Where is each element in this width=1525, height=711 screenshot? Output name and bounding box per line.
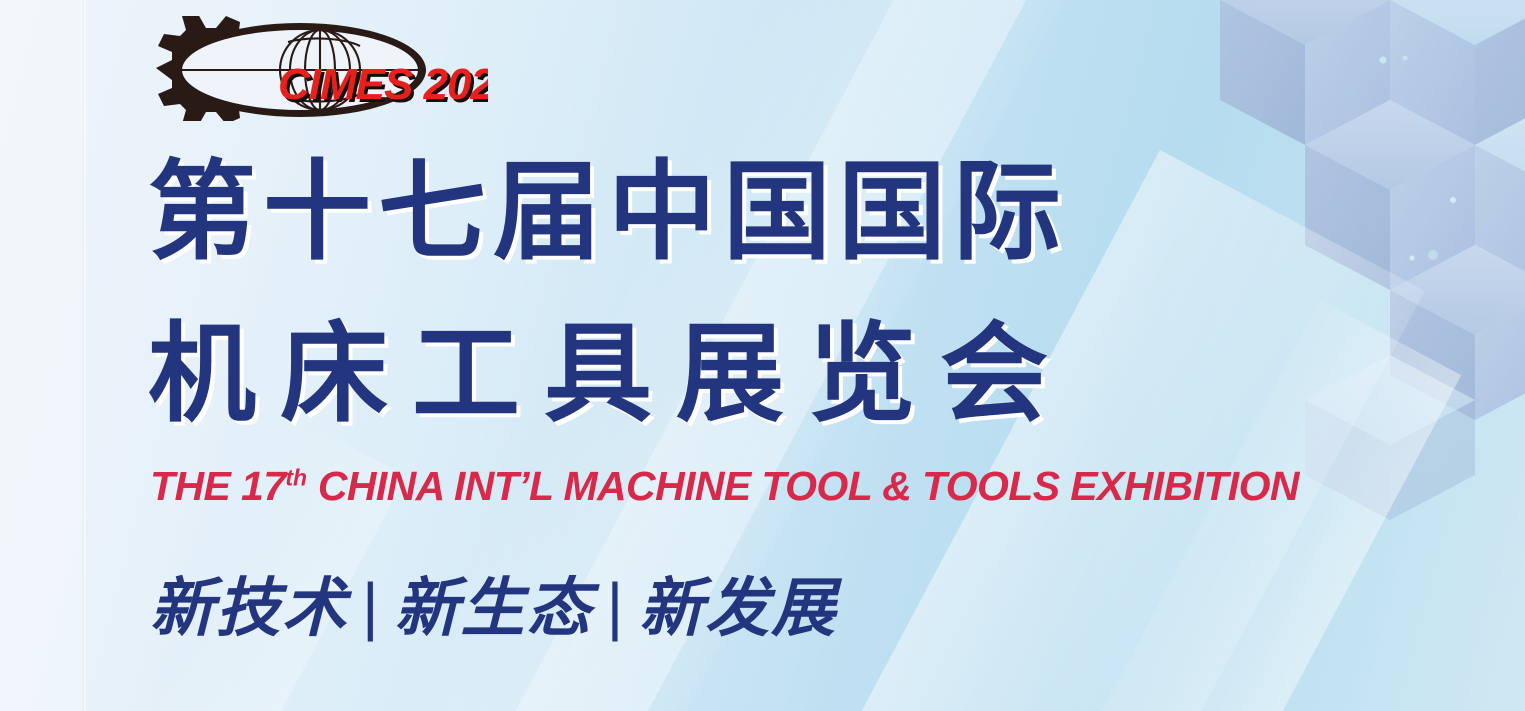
left-vertical-band-edge — [84, 0, 86, 711]
english-title: THE 17th CHINA INT’L MACHINE TOOL & TOOL… — [150, 466, 1299, 507]
left-vertical-band — [0, 0, 82, 711]
cimes-logo: CIMES 2026 CIMES 2026 — [148, 16, 488, 121]
slogan-item-1: 新技术 — [150, 572, 348, 644]
banner-content: CIMES 2026 CIMES 2026 第十七届中国国际 机床工具展览会 T… — [148, 0, 1248, 711]
exhibition-banner: CIMES 2026 CIMES 2026 第十七届中国国际 机床工具展览会 T… — [0, 0, 1525, 711]
cimes-wordmark: CIMES 2026 CIMES 2026 — [278, 60, 488, 112]
english-title-ordinal: th — [285, 464, 307, 490]
cimes-wordmark-text: CIMES 2026 — [278, 60, 488, 109]
slogan: 新技术|新生态|新发展 — [150, 576, 837, 640]
slogan-separator: | — [348, 574, 395, 638]
english-title-prefix: THE 17 — [150, 463, 285, 509]
headline-line-2: 机床工具展览会 — [148, 320, 1072, 428]
headline-line-1: 第十七届中国国际 — [148, 158, 1068, 266]
slogan-separator: | — [593, 574, 640, 638]
english-title-suffix: CHINA INT’L MACHINE TOOL & TOOLS EXHIBIT… — [307, 463, 1299, 509]
slogan-item-3: 新发展 — [639, 572, 837, 644]
slogan-item-2: 新生态 — [395, 572, 593, 644]
